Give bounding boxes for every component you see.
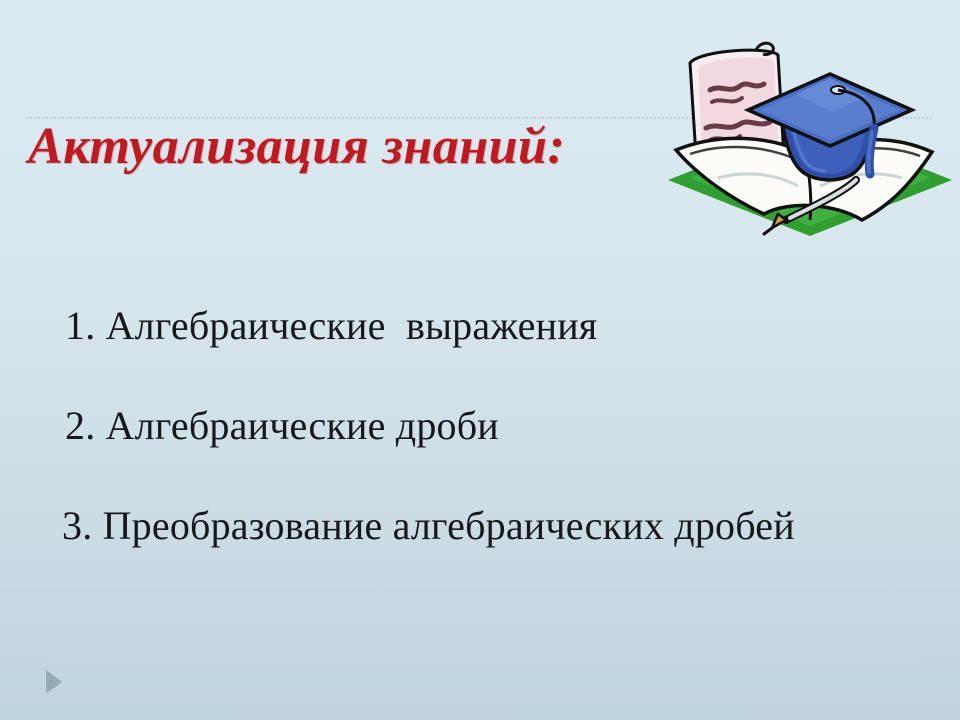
list-item: 2. Алгебраические дроби [65, 406, 902, 446]
graduation-cap-book-illustration [660, 28, 960, 260]
bottom-divider [46, 658, 922, 660]
list-item: 1. Алгебраические выражения [65, 306, 902, 346]
topic-list: 1. Алгебраические выражения 2. Алгебраич… [62, 306, 902, 546]
advance-arrow-icon[interactable] [46, 670, 61, 692]
list-item: 3. Преобразование алгебраических дробей [62, 506, 902, 546]
slide-canvas: Актуализация знаний: 1. Алгебраические в… [0, 0, 960, 720]
slide-title: Актуализация знаний: [28, 120, 565, 175]
